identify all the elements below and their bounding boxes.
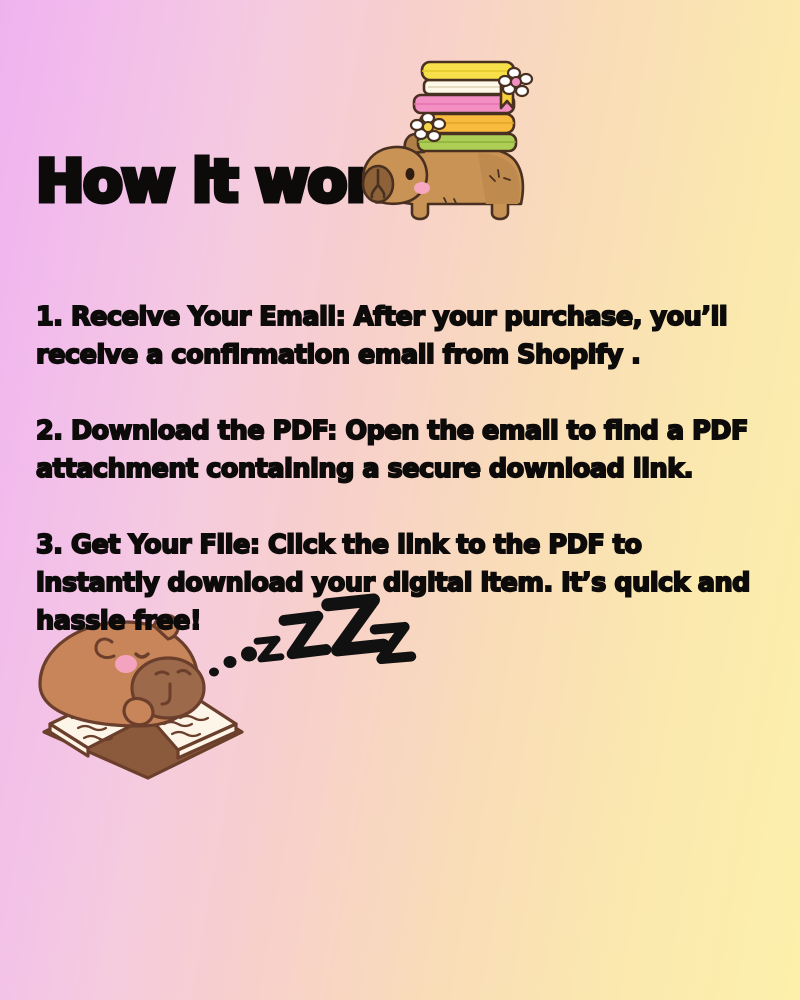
step-item-3: 3. Get Your File: Click the link to the … bbox=[36, 526, 762, 640]
zzz-dot-3 bbox=[241, 647, 257, 662]
steps-list: 1. Receive Your Email: After your purcha… bbox=[36, 272, 762, 640]
poster-canvas: How it works bbox=[0, 0, 800, 1000]
zzz-dot-1 bbox=[209, 668, 219, 677]
step-item-1: 1. Receive Your Email: After your purcha… bbox=[36, 298, 762, 374]
zzz-dot-2 bbox=[224, 656, 237, 668]
step-item-2: 2. Download the PDF: Open the email to f… bbox=[36, 412, 762, 488]
capybara-with-book-stack-illustration bbox=[358, 58, 548, 240]
